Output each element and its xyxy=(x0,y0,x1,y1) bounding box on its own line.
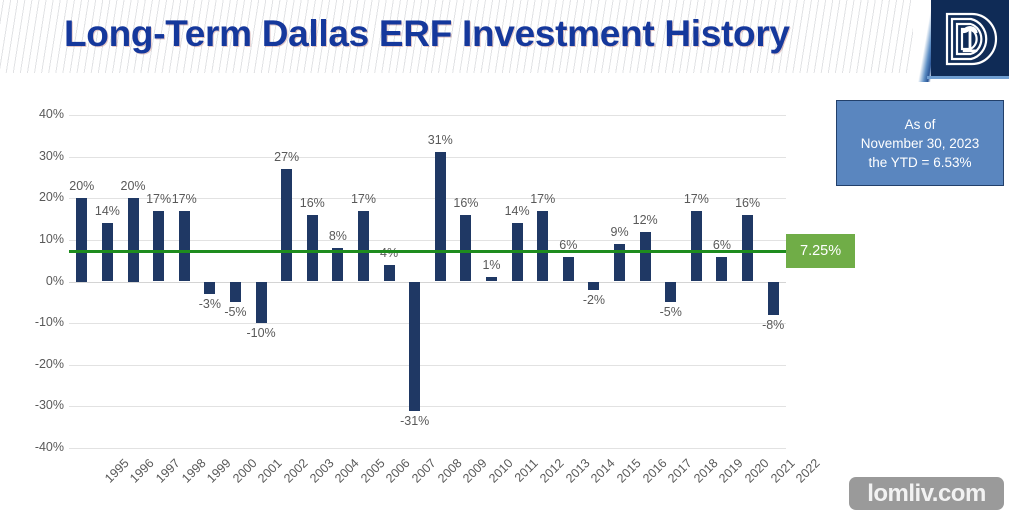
x-axis-tick-1996: 1996 xyxy=(128,456,158,486)
x-axis-tick-2005: 2005 xyxy=(358,456,388,486)
data-label-2002: -10% xyxy=(239,326,283,340)
data-label-2022: -8% xyxy=(751,318,795,332)
bar-2009[interactable] xyxy=(435,152,446,281)
data-label-2009: 31% xyxy=(418,133,462,147)
x-axis-tick-2014: 2014 xyxy=(588,456,618,486)
y-axis-tick-label: -30% xyxy=(14,398,64,412)
bar-2015[interactable] xyxy=(588,282,599,290)
x-axis-tick-2013: 2013 xyxy=(563,456,593,486)
x-axis-tick-2021: 2021 xyxy=(768,456,798,486)
gridline xyxy=(69,282,786,283)
data-label-2018: -5% xyxy=(649,305,693,319)
bar-1999[interactable] xyxy=(179,211,190,282)
data-label-2005: 8% xyxy=(316,229,360,243)
info-line-3: the YTD = 6.53% xyxy=(869,153,972,172)
data-label-2019: 17% xyxy=(674,192,718,206)
data-label-2021: 16% xyxy=(726,196,770,210)
y-axis-tick-label: 40% xyxy=(14,107,64,121)
y-axis-tick-label: 20% xyxy=(14,190,64,204)
bar-2003[interactable] xyxy=(281,169,292,281)
y-axis-tick-label: -20% xyxy=(14,357,64,371)
bar-2004[interactable] xyxy=(307,215,318,282)
data-label-2015: -2% xyxy=(572,293,616,307)
bar-2014[interactable] xyxy=(563,257,574,282)
x-axis-tick-2019: 2019 xyxy=(717,456,747,486)
data-label-2010: 16% xyxy=(444,196,488,210)
gridline xyxy=(69,323,786,324)
x-axis-tick-2020: 2020 xyxy=(742,456,772,486)
x-axis-tick-2001: 2001 xyxy=(256,456,286,486)
bar-2022[interactable] xyxy=(768,282,779,315)
gridline xyxy=(69,448,786,449)
watermark: lomliv.com xyxy=(849,477,1004,510)
gridline xyxy=(69,240,786,241)
bar-2007[interactable] xyxy=(384,265,395,282)
bar-2000[interactable] xyxy=(204,282,215,294)
x-axis-tick-1998: 1998 xyxy=(179,456,209,486)
y-axis-tick-label: 0% xyxy=(14,274,64,288)
x-axis-tick-2000: 2000 xyxy=(230,456,260,486)
gridline xyxy=(69,157,786,158)
x-axis-tick-1997: 1997 xyxy=(153,456,183,486)
y-axis-tick-label: -40% xyxy=(14,440,64,454)
x-axis-tick-2002: 2002 xyxy=(281,456,311,486)
data-label-2011: 1% xyxy=(470,258,514,272)
x-axis-tick-2009: 2009 xyxy=(460,456,490,486)
slide-header: Long-Term Dallas ERF Investment History xyxy=(0,0,1009,82)
x-axis-tick-2022: 2022 xyxy=(793,456,823,486)
data-label-1995: 20% xyxy=(60,179,104,193)
data-label-2003: 27% xyxy=(265,150,309,164)
data-label-2006: 17% xyxy=(341,192,385,206)
data-label-2007: 4% xyxy=(367,246,411,260)
gridline xyxy=(69,406,786,407)
target-reference-line xyxy=(69,250,786,253)
x-axis-tick-2010: 2010 xyxy=(486,456,516,486)
bar-2018[interactable] xyxy=(665,282,676,303)
data-label-2017: 12% xyxy=(623,213,667,227)
gridline xyxy=(69,115,786,116)
x-axis-tick-2004: 2004 xyxy=(332,456,362,486)
x-axis-tick-2008: 2008 xyxy=(435,456,465,486)
y-axis-tick-label: 30% xyxy=(14,149,64,163)
gridline xyxy=(69,365,786,366)
data-label-2004: 16% xyxy=(290,196,334,210)
y-axis-tick-label: 10% xyxy=(14,232,64,246)
city-of-dallas-d-icon xyxy=(931,0,1009,78)
data-label-1996: 14% xyxy=(85,204,129,218)
data-label-2012: 14% xyxy=(495,204,539,218)
x-axis-tick-2003: 2003 xyxy=(307,456,337,486)
bar-1998[interactable] xyxy=(153,211,164,282)
x-axis-tick-2007: 2007 xyxy=(409,456,439,486)
info-line-1: As of xyxy=(905,115,936,134)
data-label-2013: 17% xyxy=(521,192,565,206)
x-axis-tick-2015: 2015 xyxy=(614,456,644,486)
logo-underline xyxy=(927,76,1009,79)
data-label-2001: -5% xyxy=(213,305,257,319)
x-axis-tick-1999: 1999 xyxy=(204,456,234,486)
data-label-2008: -31% xyxy=(393,414,437,428)
bar-2011[interactable] xyxy=(486,277,497,281)
data-label-1999: 17% xyxy=(162,192,206,206)
x-axis-tick-1995: 1995 xyxy=(102,456,132,486)
x-axis-tick-2012: 2012 xyxy=(537,456,567,486)
target-value-badge: 7.25% xyxy=(786,234,855,268)
data-label-2016: 9% xyxy=(598,225,642,239)
logo-block xyxy=(913,0,1009,82)
x-axis-tick-2011: 2011 xyxy=(511,456,540,485)
as-of-info-box: As of November 30, 2023 the YTD = 6.53% xyxy=(836,100,1004,186)
x-axis-tick-2016: 2016 xyxy=(640,456,670,486)
bar-2017[interactable] xyxy=(640,232,651,282)
page-title: Long-Term Dallas ERF Investment History xyxy=(64,13,790,55)
bar-2020[interactable] xyxy=(716,257,727,282)
x-axis-tick-2017: 2017 xyxy=(665,456,695,486)
x-axis-tick-2006: 2006 xyxy=(384,456,414,486)
bar-2008[interactable] xyxy=(409,282,420,411)
info-line-2: November 30, 2023 xyxy=(861,134,980,153)
y-axis-tick-label: -10% xyxy=(14,315,64,329)
x-axis-tick-2018: 2018 xyxy=(691,456,721,486)
bar-2005[interactable] xyxy=(332,248,343,281)
